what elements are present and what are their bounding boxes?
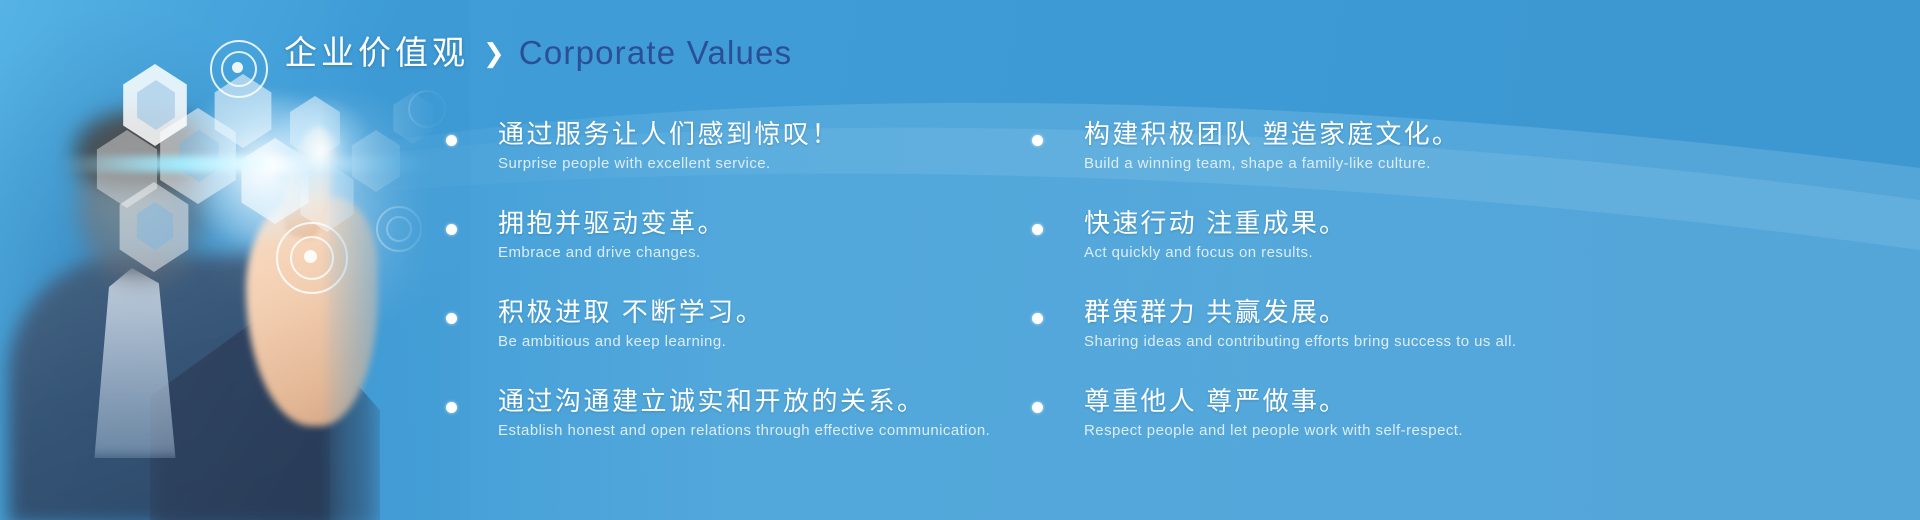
value-text-en: Surprise people with excellent service. [498,153,1060,176]
values-column-right: 构建积极团队 塑造家庭文化。 Build a winning team, sha… [1026,118,1906,442]
list-item: 通过沟通建立诚实和开放的关系。 Establish honest and ope… [440,385,1060,442]
bullet-icon [1032,135,1043,146]
value-text-cn: 通过沟通建立诚实和开放的关系。 [498,385,1060,418]
fingertip-glow [268,96,378,206]
bullet-icon [446,224,457,235]
value-text-cn: 通过服务让人们感到惊叹！ [498,118,1060,151]
target-ring-icon [376,206,422,252]
chevron-right-icon: ❯ [483,40,505,66]
value-text-cn: 快速行动 注重成果。 [1084,207,1906,240]
values-column-left: 通过服务让人们感到惊叹！ Surprise people with excell… [440,118,1060,442]
light-beam-icon [60,156,470,172]
value-text-en: Be ambitious and keep learning. [498,331,1060,354]
list-item: 构建积极团队 塑造家庭文化。 Build a winning team, sha… [1026,118,1906,175]
list-item: 群策群力 共赢发展。 Sharing ideas and contributin… [1026,296,1906,353]
bullet-icon [1032,313,1043,324]
bullet-icon [446,313,457,324]
bullet-icon [1032,224,1043,235]
list-item: 快速行动 注重成果。 Act quickly and focus on resu… [1026,207,1906,264]
corporate-values-banner: 企业价值观 ❯ Corporate Values 通过服务让人们感到惊叹！ Su… [0,0,1920,520]
value-text-en: Respect people and let people work with … [1084,420,1906,443]
list-item: 通过服务让人们感到惊叹！ Surprise people with excell… [440,118,1060,175]
bullet-icon [446,402,457,413]
value-text-en: Embrace and drive changes. [498,242,1060,265]
list-item: 尊重他人 尊严做事。 Respect people and let people… [1026,385,1906,442]
bullet-icon [1032,402,1043,413]
value-text-en: Build a winning team, shape a family-lik… [1084,153,1906,176]
value-text-en: Sharing ideas and contributing efforts b… [1084,331,1906,354]
value-text-cn: 拥抱并驱动变革。 [498,207,1060,240]
businessman-photo [0,0,470,520]
value-text-en: Establish honest and open relations thro… [498,420,1060,443]
list-item: 积极进取 不断学习。 Be ambitious and keep learnin… [440,296,1060,353]
page-title-en: Corporate Values [519,34,793,72]
value-text-en: Act quickly and focus on results. [1084,242,1906,265]
bullet-icon [446,135,457,146]
value-text-cn: 群策群力 共赢发展。 [1084,296,1906,329]
page-title-cn: 企业价值观 [284,26,469,74]
page-title: 企业价值观 ❯ Corporate Values [284,26,792,74]
value-text-cn: 积极进取 不断学习。 [498,296,1060,329]
value-text-cn: 构建积极团队 塑造家庭文化。 [1084,118,1906,151]
list-item: 拥抱并驱动变革。 Embrace and drive changes. [440,207,1060,264]
value-text-cn: 尊重他人 尊严做事。 [1084,385,1906,418]
